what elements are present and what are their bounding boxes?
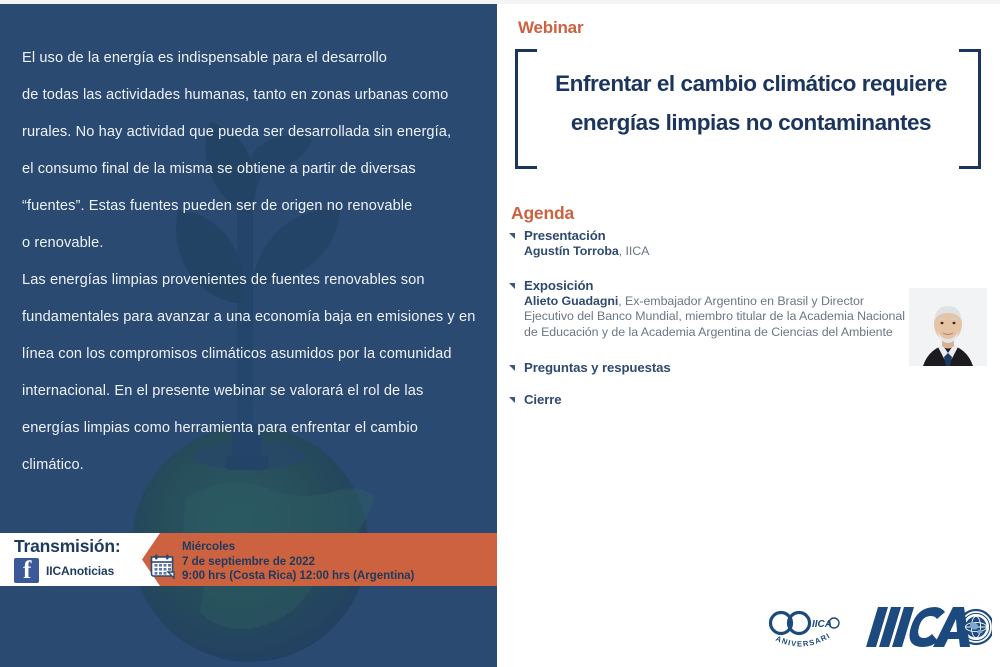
body-line: Las energías limpias provenientes de fue…: [22, 262, 482, 299]
body-line: línea con los compromisos climáticos asu…: [22, 336, 482, 373]
agenda-item-presentacion: Presentación Agustín Torroba, IICA: [508, 228, 908, 260]
left-bracket-icon: [515, 49, 537, 169]
speaker-portrait: [909, 288, 987, 366]
body-line: “fuentes”. Estas fuentes pueden ser de o…: [22, 188, 482, 225]
agenda-item-title: Exposición: [524, 278, 908, 294]
triangle-bullet-icon: [509, 397, 515, 403]
body-line: climático.: [22, 447, 482, 484]
agenda-item-title: Cierre: [524, 392, 908, 408]
triangle-bullet-icon: [509, 233, 515, 239]
body-line: rurales. No hay actividad que pueda ser …: [22, 114, 482, 151]
agenda-item-affiliation: , IICA: [619, 244, 650, 258]
iica-wordmark: [866, 607, 970, 647]
facebook-handle[interactable]: IICAnoticias: [46, 564, 114, 578]
agenda-heading: Agenda: [511, 203, 574, 224]
facebook-badge[interactable]: IICAnoticias: [14, 558, 114, 583]
agenda-item-detail: Agustín Torroba, IICA: [524, 244, 908, 260]
left-panel: El uso de la energía es indispensable pa…: [0, 4, 497, 667]
right-panel: Webinar Enfrentar el cambio climático re…: [497, 4, 1000, 667]
body-line: internacional. En el presente webinar se…: [22, 373, 482, 410]
agenda-item-cierre: Cierre: [508, 392, 908, 408]
body-line: o renovable.: [22, 225, 482, 262]
agenda-item-speaker: Alieto Guadagni: [524, 294, 618, 308]
title-bracket-box: Enfrentar el cambio climático requiere e…: [511, 49, 987, 169]
footer-logos: IICA ANIVERSARIO: [757, 601, 992, 661]
event-datetime: Miércoles 7 de septiembre de 2022 9:00 h…: [182, 540, 414, 584]
event-day: Miércoles: [182, 540, 414, 555]
right-bracket-icon: [959, 49, 981, 169]
body-line: energías limpias como herramienta para e…: [22, 410, 482, 447]
title-line-2: energías limpias no contaminantes: [571, 110, 931, 135]
body-line: el consumo final de la misma se obtiene …: [22, 151, 482, 188]
agenda-item-title: Preguntas y respuestas: [524, 360, 908, 376]
page-title: Enfrentar el cambio climático requiere e…: [541, 64, 961, 142]
triangle-bullet-icon: [509, 365, 515, 371]
left-body-copy: El uso de la energía es indispensable pa…: [22, 40, 482, 484]
agenda-item-exposicion: Exposición Alieto Guadagni, Ex-embajador…: [508, 278, 908, 341]
body-line: de todas las actividades humanas, tanto …: [22, 77, 482, 114]
agenda-item-preguntas: Preguntas y respuestas: [508, 360, 908, 376]
agenda-item-speaker: Agustín Torroba: [524, 244, 619, 258]
triangle-bullet-icon: [509, 283, 515, 289]
webinar-poster: El uso de la energía es indispensable pa…: [0, 0, 1000, 667]
anniversary-80-logo: [771, 613, 810, 634]
title-line-1: Enfrentar el cambio climático requiere: [555, 71, 947, 96]
agenda-list: Presentación Agustín Torroba, IICA Expos…: [508, 228, 908, 408]
event-time: 9:00 hrs (Costa Rica) 12:00 hrs (Argenti…: [182, 569, 414, 584]
calendar-icon: [150, 553, 176, 579]
agenda-item-title: Presentación: [524, 228, 908, 244]
facebook-icon[interactable]: [14, 558, 39, 583]
event-date: 7 de septiembre de 2022: [182, 555, 414, 570]
transmission-label: Transmisión:: [14, 536, 121, 557]
body-line: fundamentales para avanzar a una economí…: [22, 299, 482, 336]
kicker-webinar: Webinar: [518, 18, 583, 38]
body-line: El uso de la energía es indispensable pa…: [22, 40, 482, 77]
agenda-item-detail: Alieto Guadagni, Ex-embajador Argentino …: [524, 294, 908, 341]
